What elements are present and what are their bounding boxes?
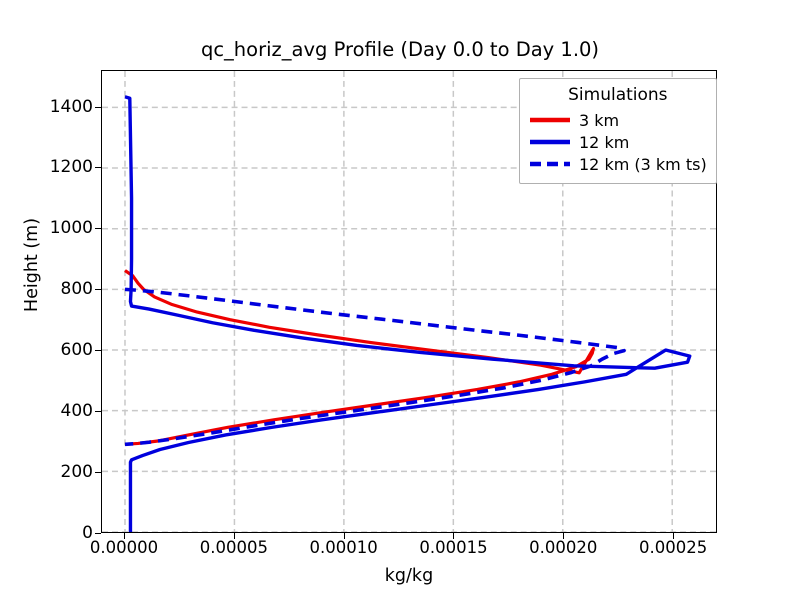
- x-axis-tick-marks: [101, 533, 717, 539]
- y-tick-label: 200: [61, 462, 93, 482]
- legend-item[interactable]: 12 km (3 km ts): [529, 153, 707, 175]
- legend-swatch-dashed: [529, 153, 571, 175]
- legend-label: 3 km: [579, 111, 619, 130]
- x-tick-label: 0.00015: [419, 538, 487, 557]
- x-tick-label: 0.00010: [310, 538, 378, 557]
- y-tick-label: 800: [61, 279, 93, 299]
- y-tick-label: 1400: [50, 97, 93, 117]
- x-axis-tick-labels: 0.000000.000050.000100.000150.000200.000…: [101, 538, 717, 564]
- x-tick-mark: [234, 533, 235, 539]
- x-tick-mark: [453, 533, 454, 539]
- x-tick-mark: [124, 533, 125, 539]
- x-tick-mark: [563, 533, 564, 539]
- y-tick-label: 600: [61, 340, 93, 360]
- x-tick-label: 0.00000: [90, 538, 158, 557]
- y-tick-label: 400: [61, 401, 93, 421]
- x-tick-mark: [344, 533, 345, 539]
- y-tick-label: 1000: [50, 218, 93, 238]
- x-tick-label: 0.00025: [639, 538, 707, 557]
- figure-canvas: qc_horiz_avg Profile (Day 0.0 to Day 1.0…: [0, 0, 800, 600]
- series-line-3-km: [125, 271, 593, 445]
- x-tick-label: 0.00020: [529, 538, 597, 557]
- legend-title: Simulations: [529, 85, 707, 105]
- x-axis-label: kg/kg: [101, 566, 717, 586]
- x-tick-mark: [673, 533, 674, 539]
- legend-label: 12 km: [579, 133, 629, 152]
- legend-swatch-solid: [529, 109, 571, 131]
- legend-item[interactable]: 12 km: [529, 131, 707, 153]
- legend-swatch-solid: [529, 131, 571, 153]
- legend-entries: 3 km12 km12 km (3 km ts): [529, 109, 707, 175]
- y-tick-label: 1200: [50, 157, 93, 177]
- page-title: qc_horiz_avg Profile (Day 0.0 to Day 1.0…: [0, 38, 800, 61]
- legend-item[interactable]: 3 km: [529, 109, 707, 131]
- legend[interactable]: Simulations 3 km12 km12 km (3 km ts): [519, 78, 717, 184]
- legend-label: 12 km (3 km ts): [579, 155, 707, 174]
- x-tick-label: 0.00005: [200, 538, 268, 557]
- y-axis-label: Height (m): [22, 145, 42, 385]
